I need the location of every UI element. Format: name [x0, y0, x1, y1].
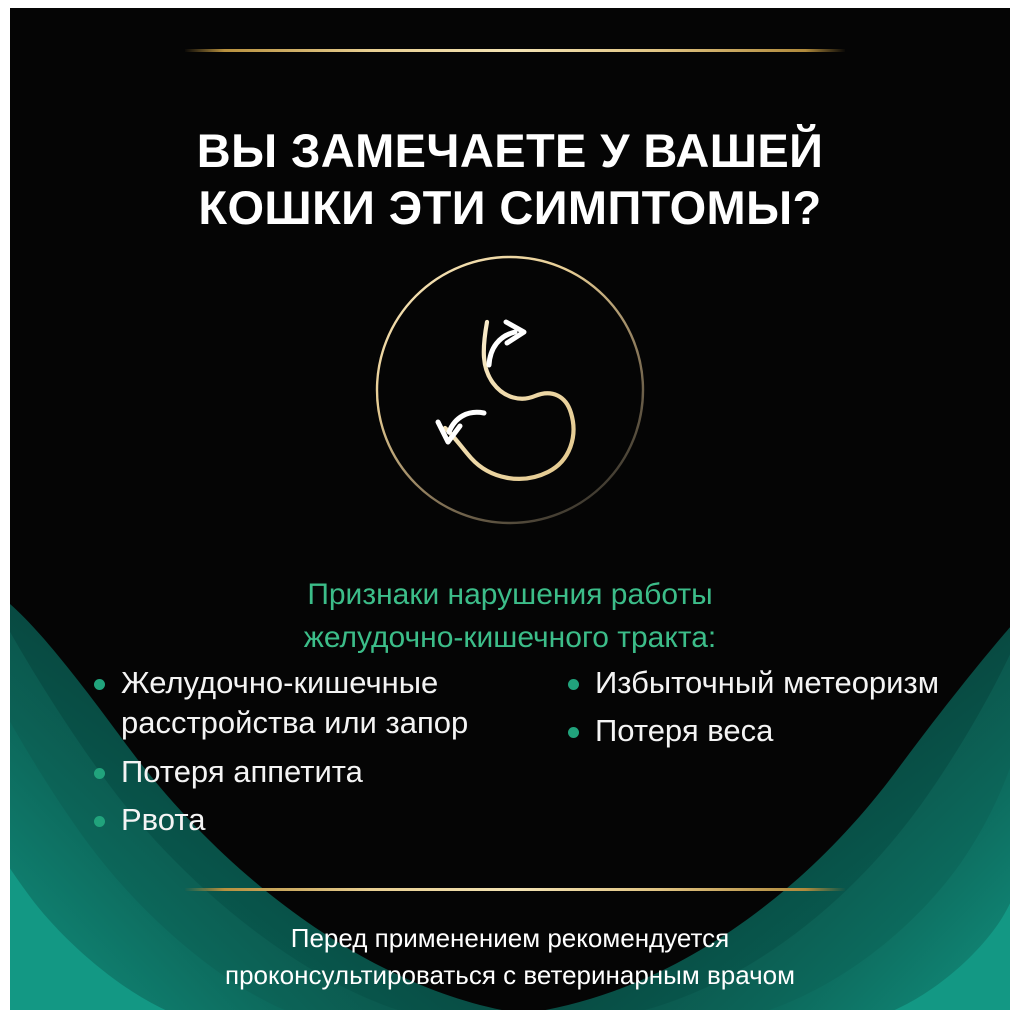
- symptom-column-left: Желудочно-кишечные расстройства или запо…: [10, 663, 550, 848]
- bullet-icon: [568, 727, 579, 738]
- subheading-line-1: Признаки нарушения работы: [120, 573, 900, 617]
- list-item: Потеря веса: [568, 711, 1010, 751]
- symptom-label: Потеря аппетита: [121, 752, 363, 792]
- poster: ВЫ ЗАМЕЧАЕТЕ У ВАШЕЙ КОШКИ ЭТИ СИМПТОМЫ?: [0, 0, 1020, 1020]
- bullet-icon: [94, 768, 105, 779]
- list-item: Потеря аппетита: [94, 752, 550, 792]
- divider-top: [185, 49, 845, 52]
- section-subtitle: Признаки нарушения работы желудочно-кише…: [10, 573, 1010, 660]
- footer-line-2: проконсультироваться с ветеринарным врач…: [50, 957, 970, 994]
- arrow-up-right-icon: [489, 322, 524, 365]
- footer-line-1: Перед применением рекомендуется: [50, 920, 970, 957]
- list-item: Рвота: [94, 800, 550, 840]
- list-item: Избыточный метеоризм: [568, 663, 1010, 703]
- divider-bottom: [185, 888, 845, 891]
- symptom-lists: Желудочно-кишечные расстройства или запо…: [10, 663, 1010, 848]
- icon-container: [10, 250, 1010, 530]
- subheading-line-2: желудочно-кишечного тракта:: [120, 616, 900, 660]
- bullet-icon: [568, 679, 579, 690]
- symptom-label: Рвота: [121, 800, 205, 840]
- symptom-label: Избыточный метеоризм: [595, 663, 939, 703]
- symptom-column-right: Избыточный метеоризм Потеря веса: [550, 663, 1010, 848]
- symptom-label: Потеря веса: [595, 711, 773, 751]
- bullet-icon: [94, 679, 105, 690]
- symptom-label: Желудочно-кишечные расстройства или запо…: [121, 663, 550, 744]
- icon-ring: [377, 257, 643, 523]
- footer-note: Перед применением рекомендуется проконсу…: [10, 920, 1010, 994]
- bullet-icon: [94, 816, 105, 827]
- page-title: ВЫ ЗАМЕЧАЕТЕ У ВАШЕЙ КОШКИ ЭТИ СИМПТОМЫ?: [10, 123, 1010, 236]
- headline-line-1: ВЫ ЗАМЕЧАЕТЕ У ВАШЕЙ: [50, 123, 970, 179]
- list-item: Желудочно-кишечные расстройства или запо…: [94, 663, 550, 744]
- stomach-icon: [370, 250, 650, 530]
- poster-canvas: ВЫ ЗАМЕЧАЕТЕ У ВАШЕЙ КОШКИ ЭТИ СИМПТОМЫ?: [10, 8, 1010, 1010]
- headline-line-2: КОШКИ ЭТИ СИМПТОМЫ?: [50, 180, 970, 236]
- stomach-outline: [445, 322, 573, 479]
